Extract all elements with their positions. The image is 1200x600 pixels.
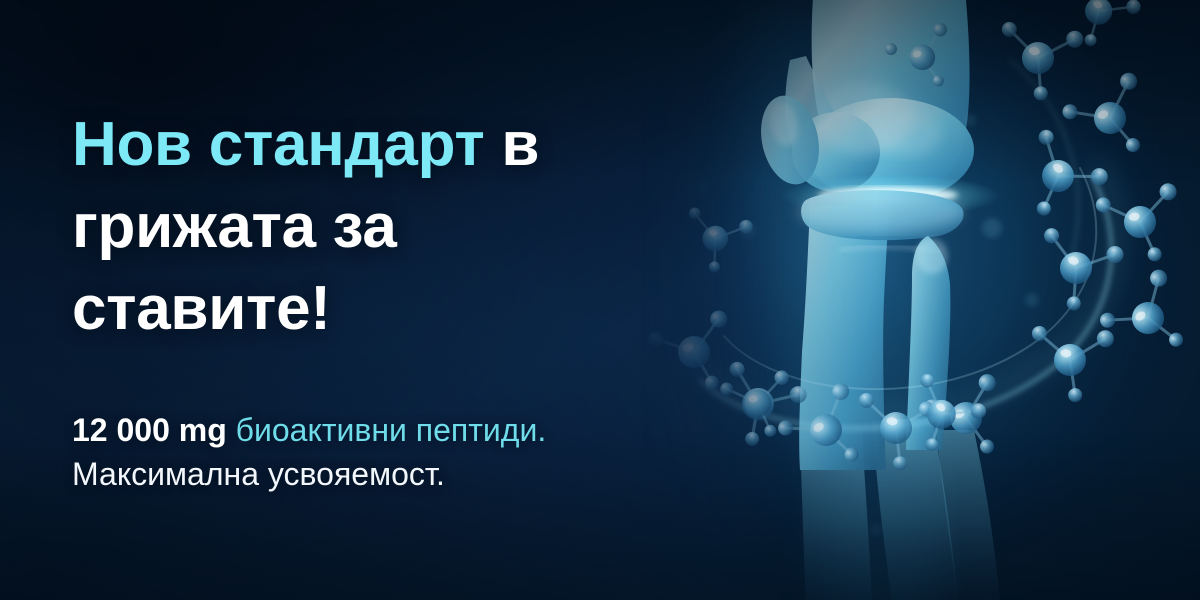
- subline-dose: 12 000 mg: [72, 412, 227, 448]
- subline: 12 000 mg биоактивни пептиди. Максимална…: [72, 408, 552, 496]
- headline: Нов стандарт в грижата за ставите!: [72, 104, 632, 350]
- copy-block: Нов стандарт в грижата за ставите! 12 00…: [72, 0, 672, 600]
- headline-accent: Нов стандарт: [72, 110, 484, 179]
- subline-accent: биоактивни пептиди.: [227, 412, 546, 448]
- subline-rest: Максимална усвояемост.: [72, 456, 445, 492]
- promo-banner: Нов стандарт в грижата за ставите! 12 00…: [0, 0, 1200, 600]
